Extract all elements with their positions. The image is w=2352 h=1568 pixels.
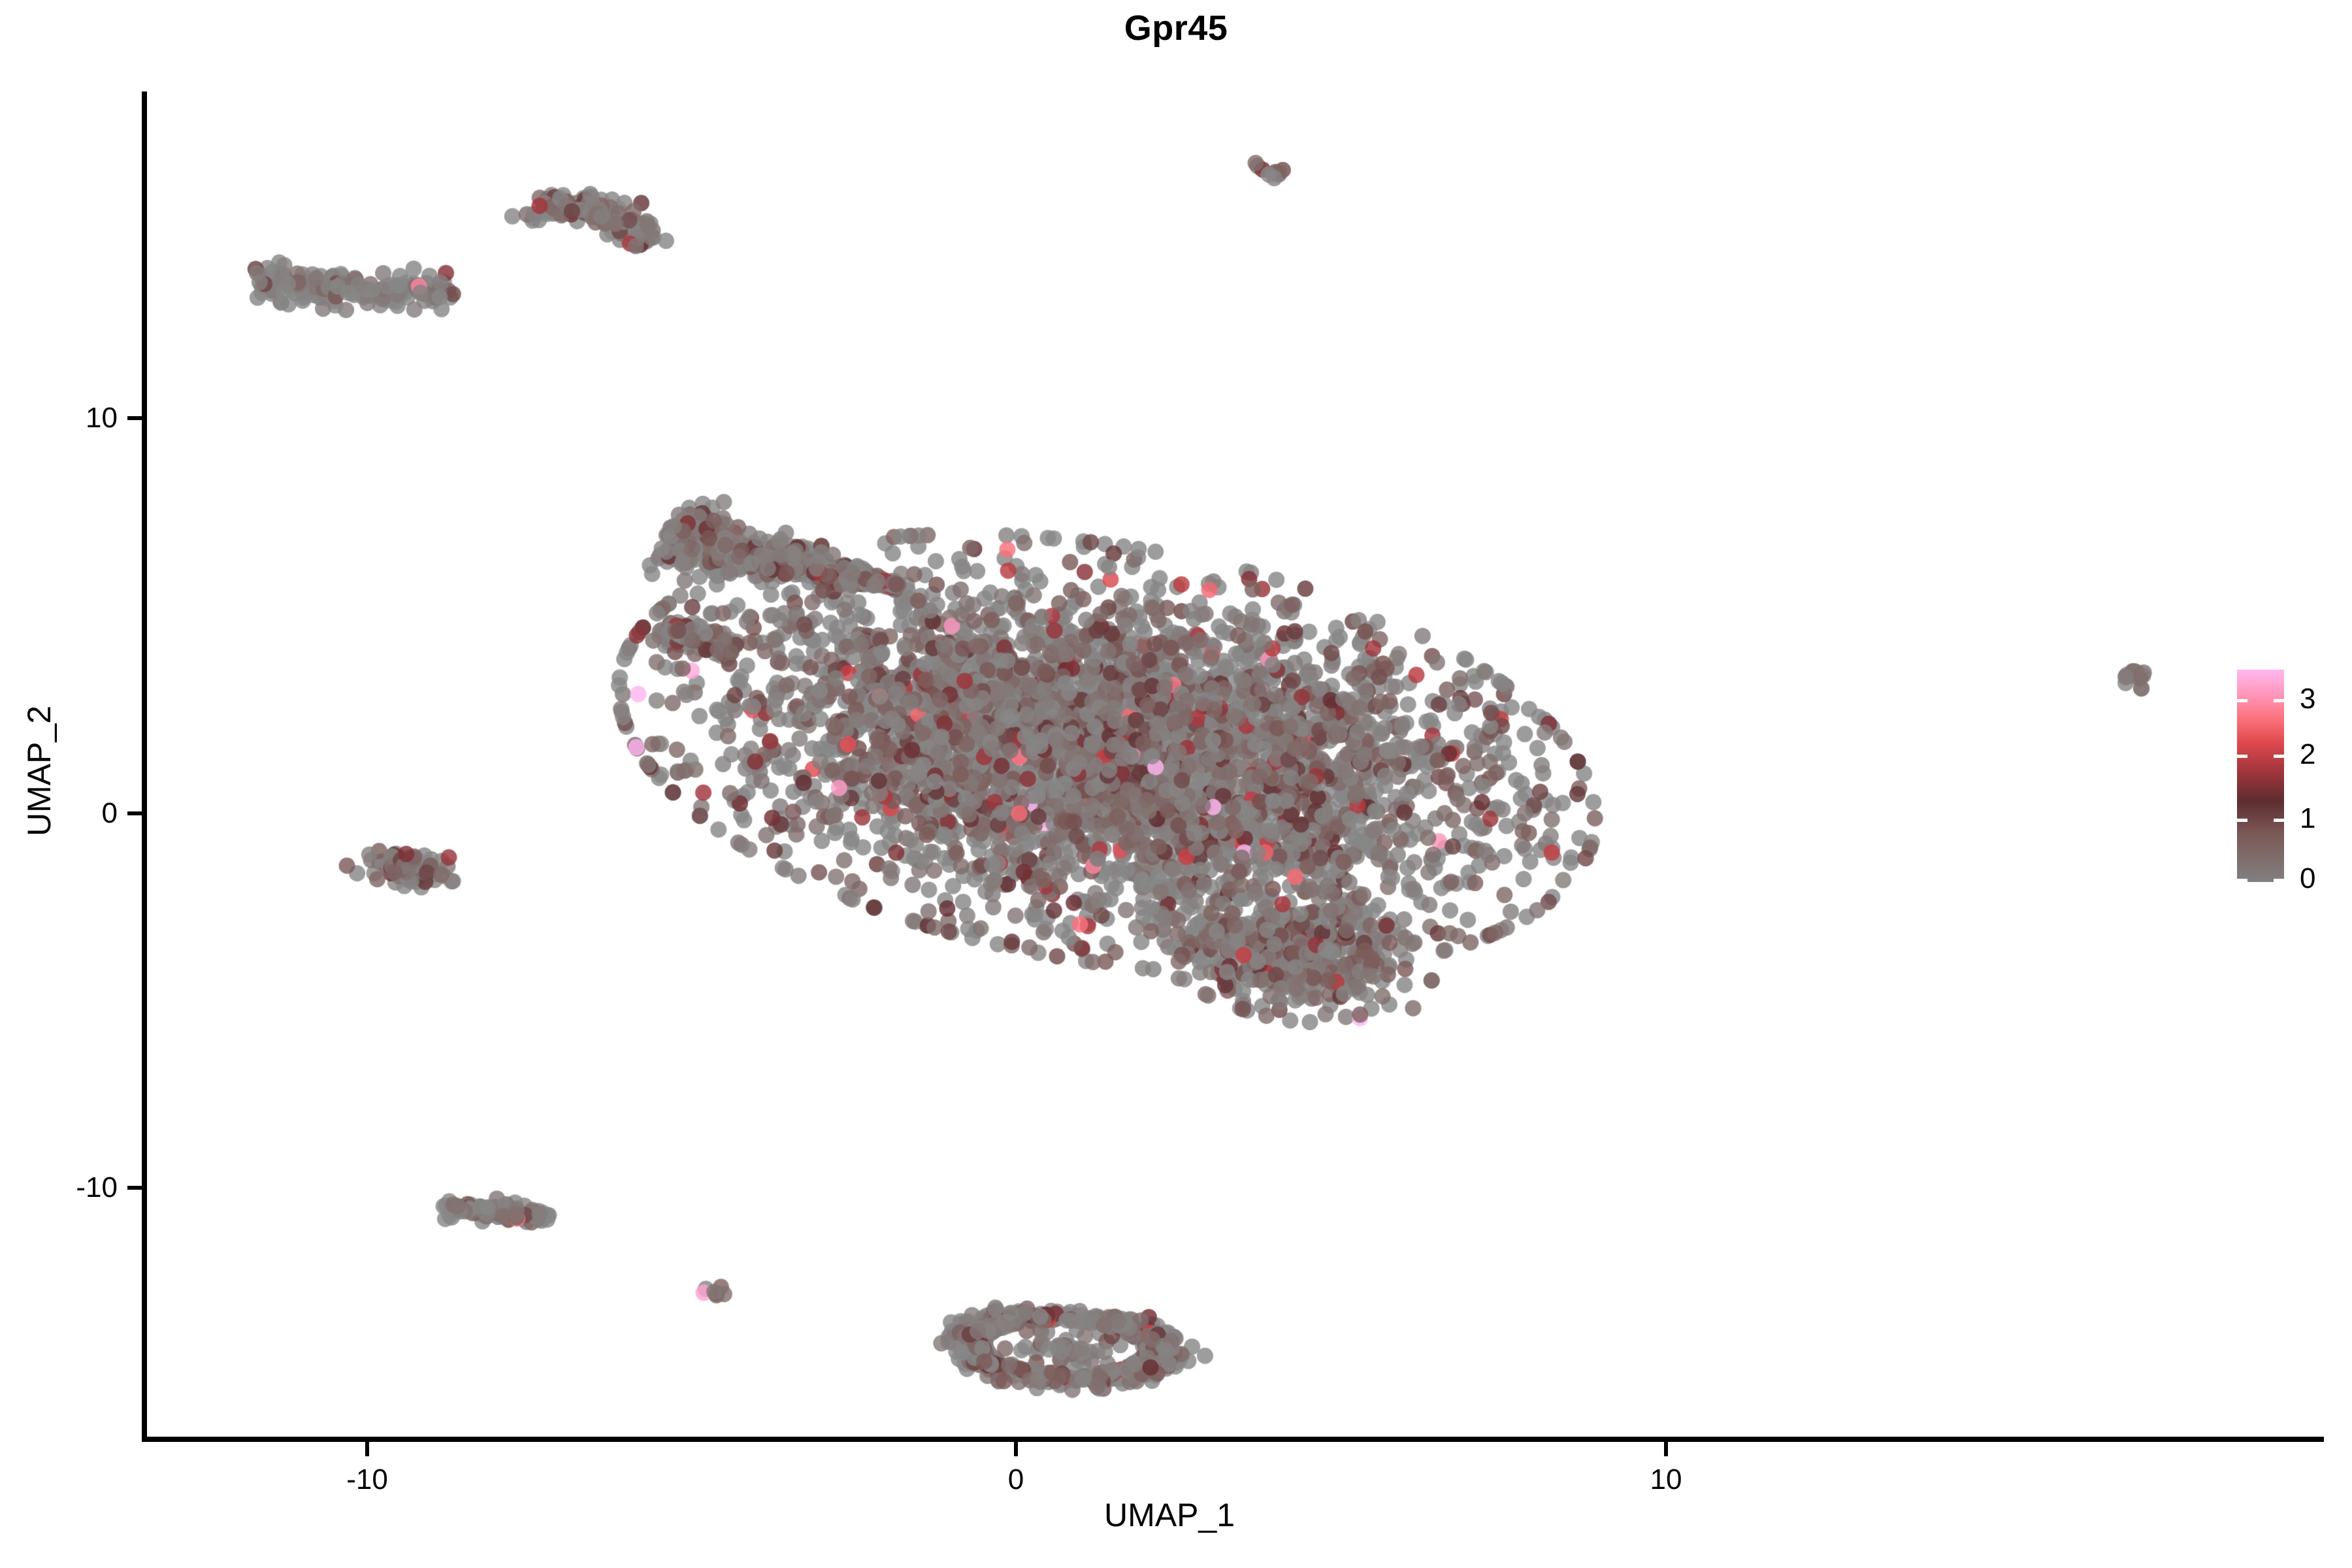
x-axis-line	[142, 1437, 2324, 1442]
y-tick-mark	[127, 416, 142, 420]
colorbar-tick	[2274, 879, 2284, 882]
scatter-points-layer	[144, 91, 2196, 1439]
y-tick-label-minus-10: -10	[20, 1171, 118, 1204]
y-tick-mark	[127, 811, 142, 815]
legend-label-2: 2	[2300, 738, 2315, 771]
colorbar-tick	[2274, 755, 2284, 758]
x-tick-mark	[365, 1442, 369, 1456]
plot-panel	[144, 91, 2196, 1439]
x-tick-label-0: 0	[1008, 1463, 1024, 1496]
y-axis-line	[142, 91, 147, 1442]
colorbar-tick	[2237, 699, 2247, 702]
x-tick-label-minus-10: -10	[346, 1463, 388, 1496]
legend-label-1: 1	[2300, 802, 2315, 835]
colorbar-tick	[2274, 819, 2284, 822]
colorbar-tick	[2237, 755, 2247, 758]
x-tick-mark	[1664, 1442, 1668, 1456]
y-tick-mark	[127, 1186, 142, 1190]
y-tick-label-10: 10	[33, 402, 118, 434]
umap-feature-plot: Gpr45 10 0 -10 -10 0 10 UMAP_1 UMAP_2 3	[0, 0, 2352, 1568]
page-title: Gpr45	[0, 8, 2352, 48]
y-axis-title: UMAP_2	[20, 706, 58, 836]
colorbar-tick	[2237, 879, 2247, 882]
colorbar-tick	[2274, 699, 2284, 702]
legend-label-3: 3	[2300, 683, 2315, 715]
legend-colorbar: 3 2 1 0	[2237, 670, 2342, 882]
x-tick-label-10: 10	[1650, 1463, 1682, 1496]
legend-label-0: 0	[2300, 862, 2315, 895]
x-axis-title: UMAP_1	[1104, 1496, 1235, 1534]
colorbar-gradient	[2237, 670, 2284, 882]
colorbar-tick	[2237, 819, 2247, 822]
x-tick-mark	[1014, 1442, 1018, 1456]
scatter-canvas	[144, 91, 2196, 1439]
